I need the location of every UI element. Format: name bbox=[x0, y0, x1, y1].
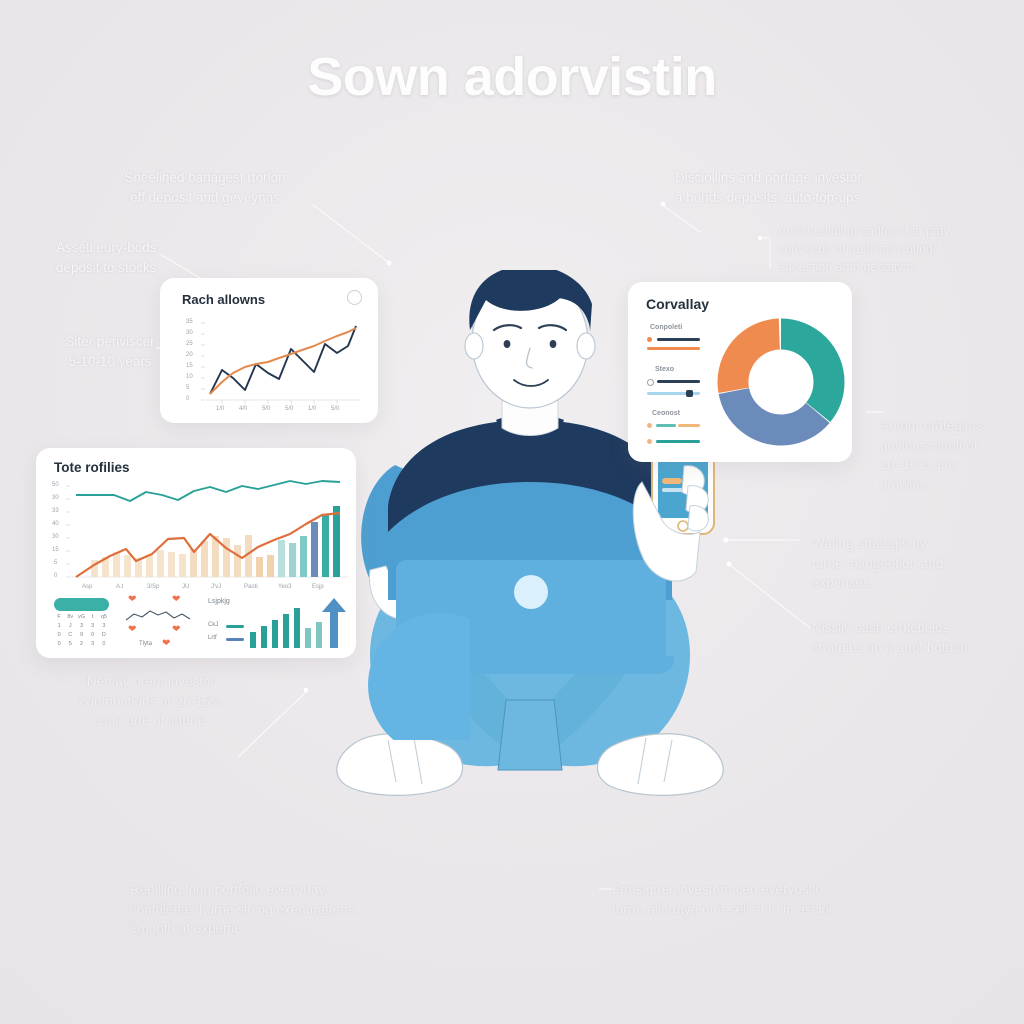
x-tick: Esjp bbox=[312, 584, 324, 590]
calendar-day[interactable]: 0 bbox=[99, 641, 109, 647]
y-tick: 35 bbox=[186, 319, 193, 325]
calendar-day[interactable]: 3 bbox=[88, 623, 98, 629]
y-tick: 30 bbox=[52, 534, 59, 540]
donut-legend-label: Ceonost bbox=[652, 410, 680, 417]
y-tick: 15 bbox=[186, 363, 193, 369]
heart-icon: ❤ bbox=[172, 594, 180, 605]
calendar-day[interactable]: 3 bbox=[99, 623, 109, 629]
calendar-day-row[interactable]: 0 C 9 0 D bbox=[54, 632, 109, 638]
calendar-day[interactable]: 3 bbox=[76, 623, 86, 629]
y-tick: 30 bbox=[186, 330, 193, 336]
note-auto-strategies: Autom-brategiers govinusconelt of 10–10%… bbox=[880, 416, 1020, 494]
page-title: Sown adorvistin bbox=[0, 46, 1024, 108]
x-tick: JU bbox=[182, 584, 189, 590]
donut-legend-label: Conpoleti bbox=[650, 324, 682, 331]
x-tick: A.t bbox=[116, 584, 123, 590]
calendar-weekday: t bbox=[88, 614, 98, 620]
calendar-day[interactable]: 9 bbox=[76, 632, 86, 638]
calendar-day[interactable]: C bbox=[65, 632, 75, 638]
legend-color-swatch bbox=[226, 625, 244, 628]
note-top-right: Disciollins and porfage investor a bonds… bbox=[675, 168, 965, 207]
note-bottom-left: Reoilling long portfolio every day, cont… bbox=[130, 880, 430, 939]
legend-slider-track[interactable] bbox=[657, 338, 700, 341]
note-horizon: Siter periviscer 5-10-10 years bbox=[40, 332, 180, 371]
note-waiting-strategy: Wating strategis by turne mangeetion and… bbox=[812, 534, 1012, 593]
y-tick: 20 bbox=[186, 352, 193, 358]
calendar-day[interactable]: 3 bbox=[88, 641, 98, 647]
donut-chart-plot bbox=[716, 312, 846, 452]
x-tick: 5/0 bbox=[285, 406, 293, 412]
note-cash-strategies: Nisslly cash erntetielos stratgies an a … bbox=[812, 618, 1022, 657]
card-dashboard[interactable]: Tote rofilies bbox=[36, 448, 356, 658]
card-line-chart[interactable]: Rach allowns 35 30 25 20 15 10 5 0 bbox=[160, 278, 378, 423]
x-tick: Asp bbox=[82, 584, 92, 590]
calendar-header[interactable] bbox=[54, 598, 109, 611]
x-tick: Yeo3 bbox=[278, 584, 291, 590]
mini-chart-label: Tlyta bbox=[139, 641, 152, 647]
donut-chart-title: Corvallay bbox=[646, 296, 709, 312]
calendar-weekday: F bbox=[54, 614, 64, 620]
bar-series bbox=[91, 506, 340, 577]
legend-color-swatch bbox=[226, 638, 244, 641]
note-asset-deposit: Asseti eury-bods deposit to stocks bbox=[56, 238, 236, 277]
tan-dot-icon bbox=[647, 423, 652, 428]
note-automation: Automedibling corlfor cf to paty conveed… bbox=[778, 222, 1008, 276]
calendar-day[interactable]: D bbox=[99, 632, 109, 638]
calendar-day[interactable]: 2 bbox=[76, 641, 86, 647]
tan-dot-icon bbox=[647, 439, 652, 444]
calendar-day[interactable]: 0 bbox=[54, 632, 64, 638]
x-tick: J'vJ bbox=[211, 584, 221, 590]
orange-dot-icon bbox=[647, 337, 652, 342]
calendar-day[interactable]: 1 bbox=[54, 623, 64, 629]
calendar-weekday: 8v bbox=[65, 614, 75, 620]
legend-slider-track[interactable] bbox=[647, 347, 700, 350]
line-chart-plot bbox=[160, 278, 378, 423]
legend-slider-track[interactable] bbox=[656, 424, 676, 427]
x-tick: 4/0 bbox=[239, 406, 247, 412]
calendar-weekday-row: F 8v vG t q5 bbox=[54, 614, 109, 620]
y-tick: 33 bbox=[52, 508, 59, 514]
y-tick: 50 bbox=[52, 482, 59, 488]
donut-legend-label: Stexo bbox=[655, 366, 674, 373]
x-tick: 3/Sp bbox=[147, 584, 159, 590]
calendar-day[interactable]: J bbox=[65, 623, 75, 629]
legend-slider-track[interactable] bbox=[656, 440, 700, 443]
legend-slider-track[interactable] bbox=[657, 380, 700, 383]
infographic-canvas: Sown adorvistin bbox=[0, 0, 1024, 1024]
y-tick: 0 bbox=[186, 396, 189, 402]
y-tick: 10 bbox=[186, 374, 193, 380]
hollow-dot-icon bbox=[647, 379, 654, 386]
heart-icon: ❤ bbox=[162, 638, 170, 649]
laptop-logo bbox=[514, 575, 548, 609]
note-bottom-right: Fratsigtrer investorn ceo everyosith tur… bbox=[612, 880, 912, 919]
x-tick: 1/0 bbox=[216, 406, 224, 412]
x-tick: 5/0 bbox=[262, 406, 270, 412]
note-nervous-investor: Nervuy orent investor contributions or 2… bbox=[46, 672, 256, 731]
heart-icon: ❤ bbox=[128, 594, 136, 605]
y-tick: 15 bbox=[52, 547, 59, 553]
x-tick: 5/0 bbox=[331, 406, 339, 412]
y-tick: 25 bbox=[186, 341, 193, 347]
growth-legend-label: Lrtf bbox=[208, 635, 217, 641]
legend-slider-track[interactable] bbox=[678, 424, 700, 427]
head-group bbox=[465, 270, 595, 408]
calendar-widget[interactable]: F 8v vG t q5 1 J 3 3 3 0 C 9 0 D 0 bbox=[54, 598, 109, 647]
calendar-day[interactable]: 0 bbox=[54, 641, 64, 647]
calendar-day[interactable]: 5 bbox=[65, 641, 75, 647]
calendar-day-row[interactable]: 1 J 3 3 3 bbox=[54, 623, 109, 629]
note-top-left: Sneelined banagest rtorlon eff deposit a… bbox=[70, 168, 340, 207]
card-donut-chart[interactable]: Corvallay Conpoleti Stexo Ceonost bbox=[628, 282, 852, 462]
calendar-day-row[interactable]: 0 5 2 3 0 bbox=[54, 641, 109, 647]
x-tick: Paoti bbox=[244, 584, 258, 590]
y-tick: 40 bbox=[52, 521, 59, 527]
calendar-weekday: q5 bbox=[99, 614, 109, 620]
x-tick: 1/0 bbox=[308, 406, 316, 412]
y-tick: 0 bbox=[54, 573, 57, 579]
slider-thumb[interactable] bbox=[686, 390, 693, 397]
growth-legend-title: Lsjpkjg bbox=[208, 598, 230, 605]
y-tick: 30 bbox=[52, 495, 59, 501]
calendar-day[interactable]: 0 bbox=[88, 632, 98, 638]
growth-legend-label: CkJ bbox=[208, 622, 218, 628]
growth-bars-with-arrow bbox=[248, 596, 348, 652]
y-tick: 5 bbox=[54, 560, 57, 566]
y-tick: 5 bbox=[186, 385, 189, 391]
mini-squiggle-line bbox=[124, 606, 194, 628]
calendar-weekday: vG bbox=[76, 614, 86, 620]
